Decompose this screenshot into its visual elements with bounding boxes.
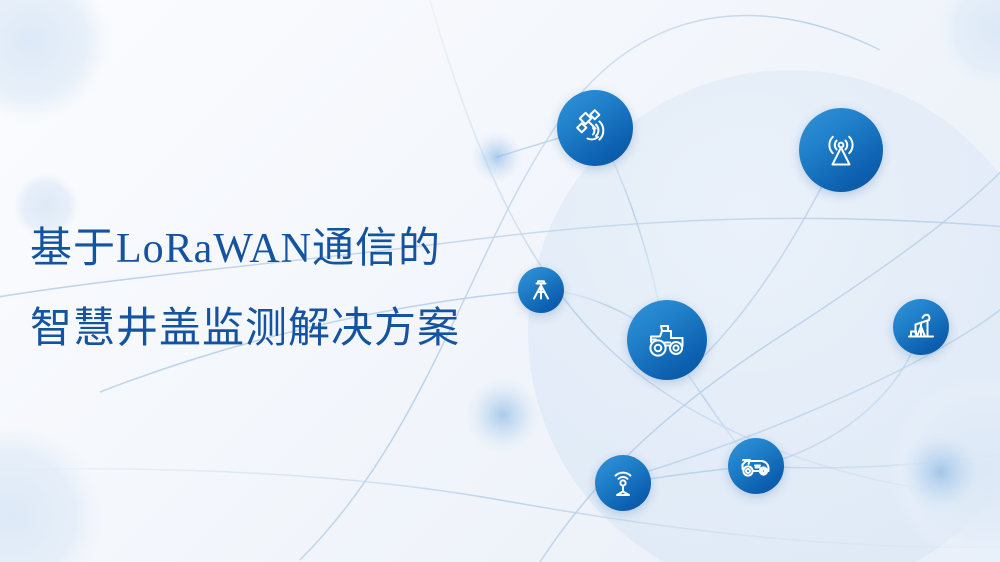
top-right-blob bbox=[936, 0, 1000, 90]
slide-title-line-1: 基于LoRaWAN通信的 bbox=[30, 228, 550, 270]
survey-tripod-icon bbox=[528, 277, 554, 303]
node-survey-tripod[interactable] bbox=[518, 267, 564, 313]
oil-pumpjack-icon bbox=[905, 311, 937, 343]
top-left-large-blob bbox=[0, 0, 112, 124]
robot-mower-icon bbox=[739, 451, 773, 481]
slide-title-block: 基于LoRaWAN通信的 智慧井盖监测解决方案 bbox=[30, 228, 550, 350]
node-robot-mower[interactable] bbox=[728, 438, 784, 494]
node-tractor[interactable] bbox=[627, 300, 707, 380]
node-oil-pumpjack[interactable] bbox=[893, 299, 949, 355]
tractor-icon bbox=[644, 319, 690, 361]
broadcast-tower-icon bbox=[818, 127, 864, 173]
glow-dot-mid bbox=[465, 377, 541, 453]
slide-title-line-2: 智慧井盖监测解决方案 bbox=[30, 308, 550, 350]
bottom-left-blob bbox=[0, 424, 104, 562]
glow-dot-upper bbox=[471, 131, 523, 183]
node-wifi-beacon[interactable] bbox=[595, 455, 651, 511]
node-satellite[interactable] bbox=[557, 90, 633, 166]
node-broadcast-tower[interactable] bbox=[799, 108, 883, 192]
wifi-beacon-icon bbox=[607, 467, 639, 499]
presentation-slide: 基于LoRaWAN通信的 智慧井盖监测解决方案 bbox=[0, 0, 1000, 562]
satellite-icon bbox=[575, 108, 615, 148]
glow-dot-lower bbox=[901, 432, 981, 512]
